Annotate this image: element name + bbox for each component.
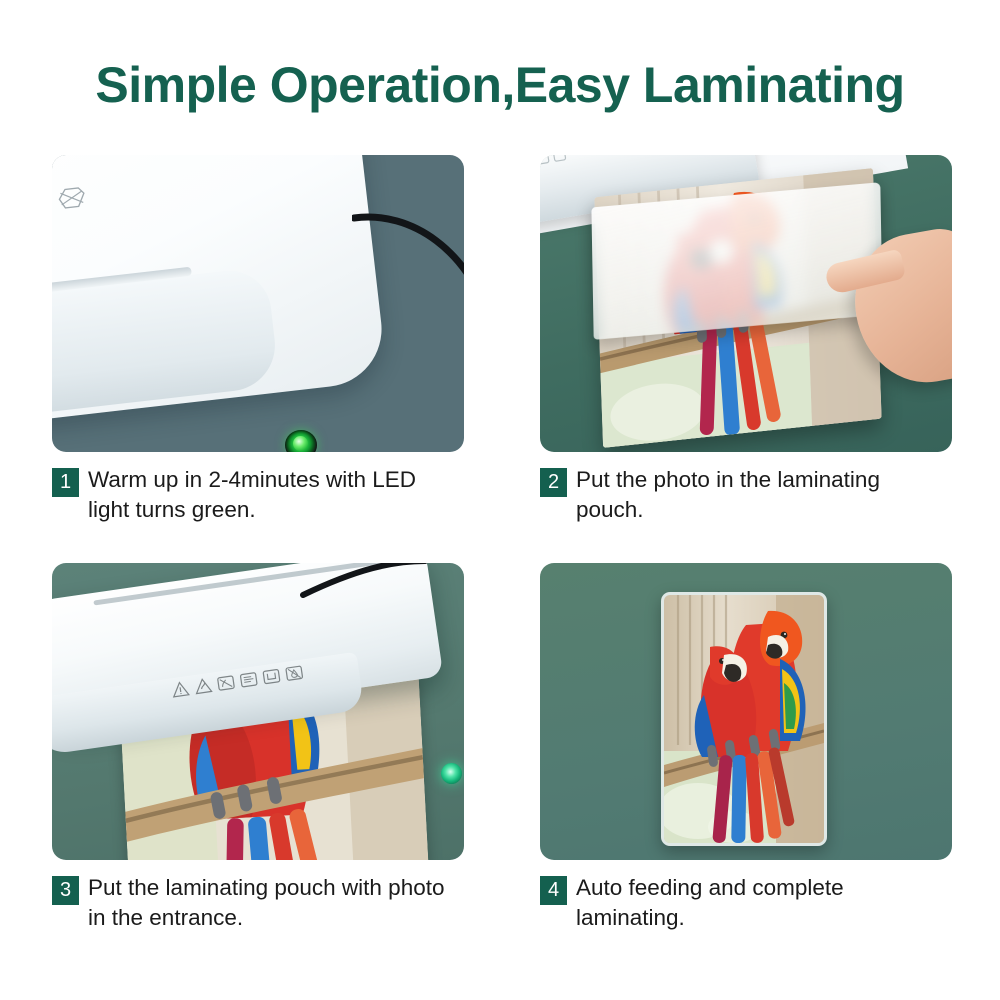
step-number-badge-4: 4 xyxy=(540,876,567,905)
step-caption-text-1: Warm up in 2-4minutes with LED light tur… xyxy=(88,465,460,525)
step-number-badge-1: 1 xyxy=(52,468,79,497)
step-caption-text-3: Put the laminating pouch with photo in t… xyxy=(88,873,460,933)
steps-grid: 1 Warm up in 2-4minutes with LED light t… xyxy=(52,155,952,933)
step-3-caption: 3 Put the laminating pouch with photo in… xyxy=(52,873,464,933)
parrot-photo-artwork xyxy=(664,595,824,843)
step-1-photo xyxy=(52,155,464,452)
laminating-pouch xyxy=(591,182,882,340)
step-1-caption: 1 Warm up in 2-4minutes with LED light t… xyxy=(52,465,464,525)
step-number-badge-2: 2 xyxy=(540,468,567,497)
infographic-page: Simple Operation,Easy Laminating 1 xyxy=(0,0,1000,1000)
step-4-photo xyxy=(540,563,952,860)
step-card-4: 4 Auto feeding and complete laminating. xyxy=(540,563,952,933)
led-indicator-green xyxy=(285,430,317,452)
laminated-photo xyxy=(661,592,827,846)
step-card-2: 2 Put the photo in the laminating pouch. xyxy=(540,155,952,525)
laminator-front-panel xyxy=(52,266,280,419)
no-hands-icon xyxy=(215,672,236,693)
step-2-caption: 2 Put the photo in the laminating pouch. xyxy=(540,465,952,525)
step-caption-text-2: Put the photo in the laminating pouch. xyxy=(576,465,948,525)
led-indicator-green xyxy=(441,763,462,784)
step-caption-text-4: Auto feeding and complete laminating. xyxy=(576,873,948,933)
warning-hot-surface-icon xyxy=(192,676,213,697)
warning-triangle-icon xyxy=(170,679,191,700)
step-4-caption: 4 Auto feeding and complete laminating. xyxy=(540,873,952,933)
step-3-photo xyxy=(52,563,464,860)
step-number-badge-3: 3 xyxy=(52,876,79,905)
step-card-3: 3 Put the laminating pouch with photo in… xyxy=(52,563,464,933)
pouch-direction-icon xyxy=(261,666,282,687)
page-title: Simple Operation,Easy Laminating xyxy=(0,56,1000,114)
brand-logo-icon xyxy=(52,181,89,215)
document-feed-icon xyxy=(238,669,259,690)
no-water-icon xyxy=(284,663,305,684)
power-cord xyxy=(297,563,427,599)
step-2-photo xyxy=(540,155,952,452)
power-cord xyxy=(352,200,464,452)
step-card-1: 1 Warm up in 2-4minutes with LED light t… xyxy=(52,155,464,525)
